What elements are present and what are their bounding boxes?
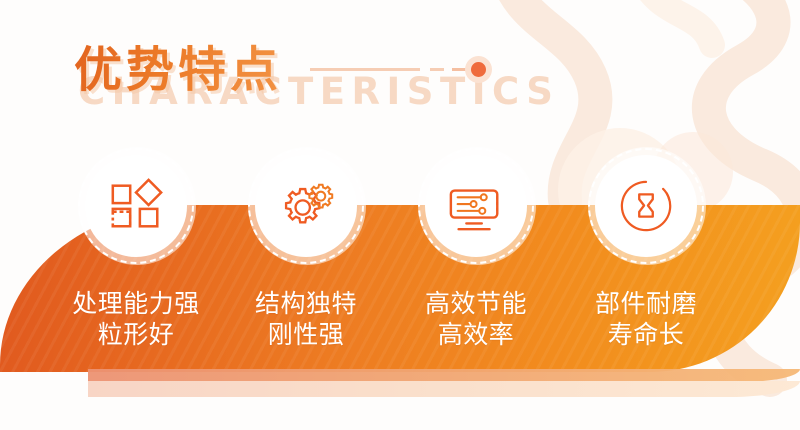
hourglass-circle-icon — [617, 177, 675, 235]
feature-label-1-line1: 处理能力强 — [51, 288, 221, 319]
banner-stage: CHARACTERISTICS 优势特点 优势特点 — [0, 0, 800, 430]
feature-label-3-line1: 高效节能 — [391, 288, 561, 319]
feature-label-4: 部件耐磨 寿命长 — [561, 288, 731, 350]
shapes-grid-icon — [107, 177, 165, 235]
band-shadow-lower — [88, 381, 800, 397]
feature-label-4-line1: 部件耐磨 — [561, 288, 731, 319]
monitor-sliders-icon — [447, 177, 505, 235]
feature-label-1-line2: 粒形好 — [51, 319, 221, 350]
accent-line-dash-1 — [430, 68, 444, 71]
feature-circle-2[interactable] — [255, 155, 357, 257]
page-title-text: 优势特点 — [74, 30, 282, 100]
feature-label-3: 高效节能 高效率 — [391, 288, 561, 350]
title-accent — [310, 62, 490, 76]
feature-label-1: 处理能力强 粒形好 — [51, 288, 221, 350]
gears-icon — [277, 177, 335, 235]
feature-label-2: 结构独特 刚性强 — [221, 288, 391, 350]
feature-label-2-line1: 结构独特 — [221, 288, 391, 319]
feature-circle-4[interactable] — [595, 155, 697, 257]
feature-label-2-line2: 刚性强 — [221, 319, 391, 350]
feature-circle-1[interactable] — [85, 155, 187, 257]
accent-dot — [471, 62, 486, 77]
accent-line-solid — [310, 68, 420, 71]
feature-label-4-line2: 寿命长 — [561, 319, 731, 350]
feature-circle-3[interactable] — [425, 155, 527, 257]
feature-label-3-line2: 高效率 — [391, 319, 561, 350]
accent-line-dash-2 — [452, 68, 466, 71]
